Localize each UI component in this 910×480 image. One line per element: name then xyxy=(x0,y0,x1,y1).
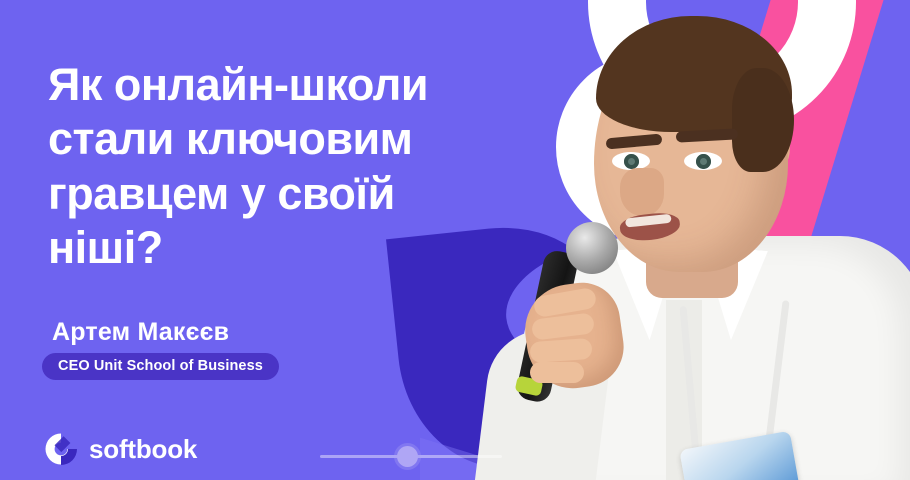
softbook-wordmark: softbook xyxy=(89,434,197,465)
slider-handle[interactable] xyxy=(397,446,418,467)
speaker-name: Артем Макєєв xyxy=(52,318,229,347)
eye-right xyxy=(684,152,722,170)
promo-slide: Як онлайн-школи стали ключовим гравцем у… xyxy=(0,0,910,480)
slide-content: Як онлайн-школи стали ключовим гравцем у… xyxy=(0,0,540,480)
iris-right xyxy=(696,154,711,169)
progress-slider[interactable] xyxy=(320,446,502,468)
softbook-leaf-icon xyxy=(44,432,78,466)
speaker-role-badge: CEO Unit School of Business xyxy=(42,353,279,380)
nose xyxy=(620,168,664,216)
softbook-logo[interactable]: softbook xyxy=(44,432,197,466)
iris-left xyxy=(624,154,639,169)
headline: Як онлайн-школи стали ключовим гравцем у… xyxy=(48,58,518,276)
microphone-head xyxy=(566,222,618,274)
hair-side xyxy=(732,68,794,172)
